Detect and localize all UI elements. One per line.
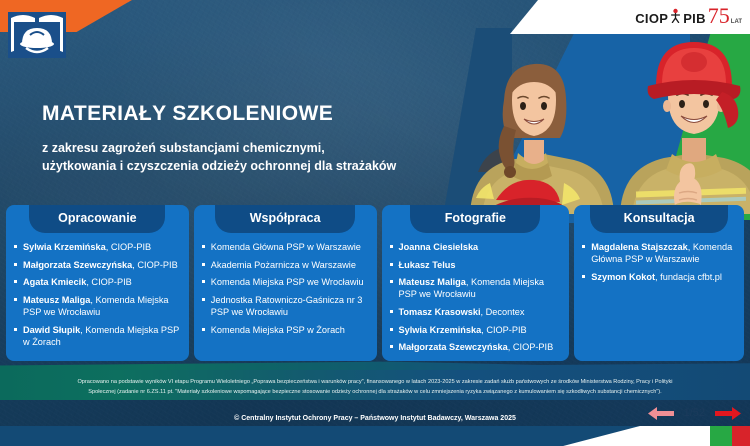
list-item: Małgorzata Szewczyńska, CIOP-PIB	[14, 259, 181, 271]
ciop-pib-logo: CIOP PIB 75 LAT	[635, 7, 742, 26]
list-item: Komenda Miejska PSP we Wrocławiu	[202, 276, 369, 288]
card-title: Współpraca	[250, 211, 321, 225]
card-header-opracowanie: Opracowanie	[29, 205, 165, 233]
book-helmet-logo	[6, 6, 68, 64]
page-indicator: 1/52	[684, 407, 705, 419]
person-affiliation: , Decontex	[481, 307, 525, 317]
list-item: Małgorzata Szewczyńska, CIOP-PIB	[390, 341, 562, 353]
organisation-name: Komenda Miejska PSP w Żorach	[211, 325, 345, 335]
fine-print-line-2: Społecznej (zadanie nr 6.ZS.11 pt. "Mate…	[6, 388, 744, 398]
bottom-strip-red	[732, 426, 750, 446]
subtitle-line-1: z zakresu zagrożeń substancjami chemiczn…	[42, 141, 325, 155]
person-name: Łukasz Telus	[399, 260, 456, 270]
list-item: Jednostka Ratowniczo-Gaśnicza nr 3 PSP w…	[202, 294, 369, 318]
person-name: Małgorzata Szewczyńska	[23, 260, 132, 270]
credits-card-fotografie: Fotografie Joanna Ciesielska Łukasz Telu…	[382, 205, 570, 361]
list-item: Mateusz Maliga, Komenda Miejska PSP we W…	[390, 276, 562, 300]
next-arrow-icon[interactable]	[714, 406, 742, 421]
subtitle-line-2: użytkowania i czyszczenia odzieży ochron…	[42, 159, 396, 173]
organisation-name: Komenda Główna PSP w Warszawie	[211, 242, 361, 252]
slide-navigation: 1/52	[647, 402, 742, 424]
person-name: Joanna Ciesielska	[399, 242, 479, 252]
person-name: Mateusz Maliga	[23, 295, 90, 305]
credits-card-opracowanie: Opracowanie Sylwia Krzemińska, CIOP-PIB …	[6, 205, 189, 361]
person-name: Sylwia Krzemińska	[23, 242, 106, 252]
person-name: Małgorzata Szewczyńska	[399, 342, 508, 352]
card-title: Opracowanie	[58, 211, 137, 225]
card-header-wspolpraca: Współpraca	[215, 205, 355, 233]
page-title: MATERIAŁY SZKOLENIOWE	[42, 102, 472, 125]
credits-list-opracowanie: Sylwia Krzemińska, CIOP-PIB Małgorzata S…	[14, 241, 181, 348]
person-name: Sylwia Krzemińska	[399, 325, 482, 335]
firefighters-illustration	[460, 22, 750, 214]
ciop-figure-icon	[669, 8, 682, 23]
page-subtitle: z zakresu zagrożeń substancjami chemiczn…	[42, 139, 472, 175]
credits-list-fotografie: Joanna Ciesielska Łukasz Telus Mateusz M…	[390, 241, 562, 353]
credits-list-wspolpraca: Komenda Główna PSP w Warszawie Akademia …	[202, 241, 369, 336]
list-item: Mateusz Maliga, Komenda Miejska PSP we W…	[14, 294, 181, 318]
person-name: Dawid Słupik	[23, 325, 80, 335]
list-item: Szymon Kokot, fundacja cfbt.pl	[582, 271, 736, 283]
card-title: Konsultacja	[624, 211, 695, 225]
list-item: Agata Kmiecik, CIOP-PIB	[14, 276, 181, 288]
list-item: Sylwia Krzemińska, CIOP-PIB	[14, 241, 181, 253]
ciop-text: CIOP	[635, 11, 668, 26]
organisation-name: Jednostka Ratowniczo-Gaśnicza nr 3 PSP w…	[211, 295, 363, 317]
credits-card-row: Opracowanie Sylwia Krzemińska, CIOP-PIB …	[6, 205, 744, 361]
card-title: Fotografie	[445, 211, 506, 225]
person-name: Magdalena Stajszczak	[591, 242, 688, 252]
person-affiliation: , CIOP-PIB	[132, 260, 177, 270]
list-item: Tomasz Krasowski, Decontex	[390, 306, 562, 318]
person-affiliation: , CIOP-PIB	[508, 342, 553, 352]
bottom-strip-blue	[0, 426, 640, 446]
organisation-name: Komenda Miejska PSP we Wrocławiu	[211, 277, 364, 287]
person-name: Szymon Kokot	[591, 272, 655, 282]
organisation-name: Akademia Pożarnicza w Warszawie	[211, 260, 356, 270]
person-affiliation: , CIOP-PIB	[86, 277, 131, 287]
list-item: Joanna Ciesielska	[390, 241, 562, 253]
person-name: Mateusz Maliga	[399, 277, 466, 287]
list-item: Komenda Miejska PSP w Żorach	[202, 324, 369, 336]
fine-print-line-1: Opracowano na podstawie wyników VI etapu…	[6, 378, 744, 388]
list-item: Komenda Główna PSP w Warszawie	[202, 241, 369, 253]
credits-card-wspolpraca: Współpraca Komenda Główna PSP w Warszawi…	[194, 205, 377, 361]
person-affiliation: , CIOP-PIB	[481, 325, 526, 335]
anniversary-number: 75	[708, 7, 730, 25]
card-header-fotografie: Fotografie	[410, 205, 540, 233]
person-name: Agata Kmiecik	[23, 277, 86, 287]
slide-canvas: CIOP PIB 75 LAT MATERIAŁY SZKOLENIOWE z …	[0, 0, 750, 446]
list-item: Dawid Słupik, Komenda Miejska PSP w Żora…	[14, 324, 181, 348]
list-item: Sylwia Krzemińska, CIOP-PIB	[390, 324, 562, 336]
bottom-strip-green	[710, 426, 732, 446]
prev-arrow-icon[interactable]	[647, 406, 675, 421]
credits-card-konsultacja: Konsultacja Magdalena Stajszczak, Komend…	[574, 205, 744, 361]
credits-list-konsultacja: Magdalena Stajszczak, Komenda Główna PSP…	[582, 241, 736, 283]
footer-fine-print: Opracowano na podstawie wyników VI etapu…	[0, 378, 750, 398]
person-name: Tomasz Krasowski	[399, 307, 481, 317]
card-header-konsultacja: Konsultacja	[590, 205, 728, 233]
pib-text: PIB	[683, 11, 706, 26]
list-item: Akademia Pożarnicza w Warszawie	[202, 259, 369, 271]
person-affiliation: , CIOP-PIB	[106, 242, 151, 252]
list-item: Łukasz Telus	[390, 259, 562, 271]
headline-block: MATERIAŁY SZKOLENIOWE z zakresu zagrożeń…	[42, 102, 472, 175]
list-item: Magdalena Stajszczak, Komenda Główna PSP…	[582, 241, 736, 265]
copyright-text: © Centralny Instytut Ochrony Pracy – Pań…	[0, 415, 750, 422]
anniversary-unit: LAT	[731, 19, 742, 25]
person-affiliation: , fundacja cfbt.pl	[655, 272, 722, 282]
